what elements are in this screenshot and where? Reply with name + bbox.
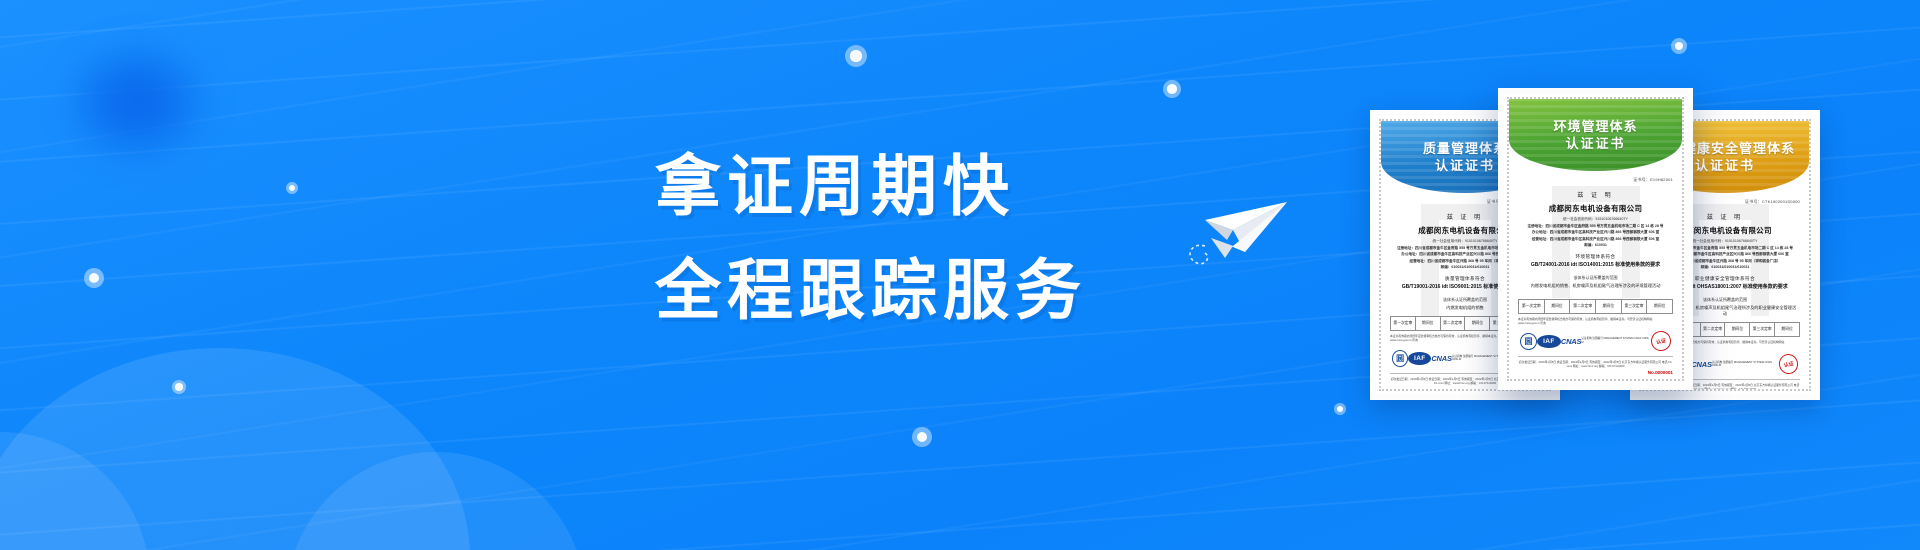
certificate-subtitle: 认证证书 <box>1565 135 1625 152</box>
certificate-band-environment: 环境管理体系 认证证书 <box>1509 99 1682 171</box>
hero-banner: 拿证周期快 全程跟踪服务 质量管理体系 认证证书 证书号：CTK1902001Z… <box>0 0 1920 550</box>
certificate-postcode: 邮编：610031 <box>1518 243 1673 249</box>
table-cell: 第一次定审 <box>1391 317 1416 330</box>
certificate-title: 质量管理体系 <box>1423 140 1507 157</box>
certificate-number: 证书号：CTK1902001S0000 <box>1745 199 1800 205</box>
decorative-dot <box>84 268 104 288</box>
certificate-credit-code: 统一社会信用代码：91510106766640TY <box>1518 217 1673 223</box>
certificate-address-1: 注册地址：四川省成都市金牛区金府路 555 号万贯五金机电市场二期 C 区 14… <box>1518 224 1673 230</box>
certificate-logos: 囻 IAF CNAS 认证机构 注册编号 MANAGEMENT SYSTEM C… <box>1518 331 1673 351</box>
table-cell: 第二次定审 <box>1701 323 1726 336</box>
decorative-dot <box>1163 80 1181 98</box>
table-cell: 期间位 <box>1465 317 1490 330</box>
table-cell: 期间位 <box>1545 300 1571 313</box>
certificates-group: 质量管理体系 认证证书 证书号：CTK1902001ZMIN 兹 证 明 成都闵… <box>1370 80 1910 480</box>
cnas-logo-icon: CNAS <box>1561 337 1581 346</box>
table-cell: 第三次定审 <box>1622 300 1648 313</box>
certificate-logo-text: 认证机构 注册编号 MANAGEMENT SYSTEM CNAS C000-M <box>1581 337 1651 344</box>
certificate-subtitle: 认证证书 <box>1695 157 1755 174</box>
cnca-seal-icon: 囻 <box>1520 333 1537 350</box>
decorative-circle-right <box>286 452 586 550</box>
headline-line-2: 全程跟踪服务 <box>655 244 1087 336</box>
table-cell: 期间位 <box>1416 317 1441 330</box>
blue-glow-blob <box>42 22 232 182</box>
decorative-dot <box>845 45 867 67</box>
table-cell: 第二次定审 <box>1570 300 1596 313</box>
table-cell: 期间位 <box>1647 300 1672 313</box>
certificate-proof-label: 兹 证 明 <box>1707 212 1743 221</box>
decorative-dot <box>912 427 932 447</box>
red-stamp-icon: 认证 <box>1777 353 1800 377</box>
iaf-logo-icon: IAF <box>1408 352 1431 365</box>
certificate-system-label: 职业健康安全管理体系符合 <box>1695 276 1755 282</box>
certificate-scope: 内燃发电机组的销售、机房噪声及机组尾气治理所涉及的环境管理活动 <box>1529 283 1663 289</box>
decorative-circle-large <box>0 348 470 550</box>
certificate-fineprint: 本证书有效期内须经年度监督审核合格方可保持有效，认证机构有权暂停、撤销本证书。可… <box>1518 317 1673 325</box>
certificate-address-2: 办公地址：四川省成都市金牛区高科技产业区兴川路 866 号西部钢铁大厦 606 … <box>1518 230 1673 236</box>
table-cell: 第一次定审 <box>1519 300 1545 313</box>
headline-block: 拿证周期快 全程跟踪服务 <box>655 140 1087 336</box>
certificate-scope: 内燃发电机组的销售 <box>1444 305 1486 311</box>
table-cell: 期间位 <box>1596 300 1622 313</box>
certificate-logo-text: 认证机构 注册编号 MANAGEMENT SYSTEM CNAS C000-M <box>1712 361 1779 368</box>
table-cell: 第二次定审 <box>1441 317 1466 330</box>
cnas-logo-icon: CNAS <box>1691 360 1711 369</box>
decorative-dot <box>172 380 186 394</box>
headline-line-1: 拿证周期快 <box>655 140 1087 232</box>
decorative-circle-left <box>0 432 150 550</box>
table-cell: 期间位 <box>1725 323 1750 336</box>
cnas-logo-icon: CNAS <box>1431 354 1451 363</box>
iaf-logo-icon: IAF <box>1537 335 1561 348</box>
certificate-proof-label: 兹 证 明 <box>1447 212 1483 221</box>
certificate-scope-title: 该体系认证所覆盖的范围 <box>1574 275 1618 281</box>
certificate-subtitle: 认证证书 <box>1435 157 1495 174</box>
table-cell: 第三次定审 <box>1750 323 1775 336</box>
decorative-dot <box>1671 38 1687 54</box>
certificate-system-label: 环境管理体系符合 <box>1576 254 1616 260</box>
certificate-footer: 初次发证日期：2019年1月5日 换证日期：2019年1月5日 有效期至：202… <box>1518 356 1673 368</box>
certificate-scope-title: 该体系认证所覆盖的范围 <box>1703 297 1747 303</box>
certificate-number: 证书号：E19H82001 <box>1633 177 1673 183</box>
certificate-scope-title: 该体系认证所覆盖的范围 <box>1443 297 1487 303</box>
cnca-seal-icon: 囻 <box>1392 350 1408 367</box>
red-stamp-icon: 认证 <box>1649 329 1673 353</box>
decorative-dot <box>286 182 298 194</box>
certificate-environment[interactable]: 环境管理体系 认证证书 证书号：E19H82001 兹 证 明 成都闵东电机设备… <box>1498 88 1693 390</box>
paper-plane-icon <box>1175 168 1305 278</box>
certificate-serial: No.0000001 <box>1648 370 1673 375</box>
certificate-proof-label: 兹 证 明 <box>1577 190 1613 199</box>
certificate-title: 环境管理体系 <box>1553 118 1637 135</box>
certificate-address-3: 经营地址：四川省成都市金牛区高科技产业区兴川路 866 号西部钢铁大厦 606 … <box>1518 237 1673 243</box>
table-cell: 期间位 <box>1775 323 1799 336</box>
certificate-company-name: 成都闵东电机设备有限公司 <box>1549 203 1643 214</box>
certificate-system-label: 质量管理体系符合 <box>1445 276 1485 282</box>
certificate-standard: GB/T24001-2016 idt ISO14001:2015 标准使用条款的… <box>1531 262 1660 269</box>
decorative-dot <box>1334 403 1346 415</box>
certificate-audit-table: 第一次定审 期间位 第二次定审 期间位 第三次定审 期间位 <box>1518 299 1673 314</box>
